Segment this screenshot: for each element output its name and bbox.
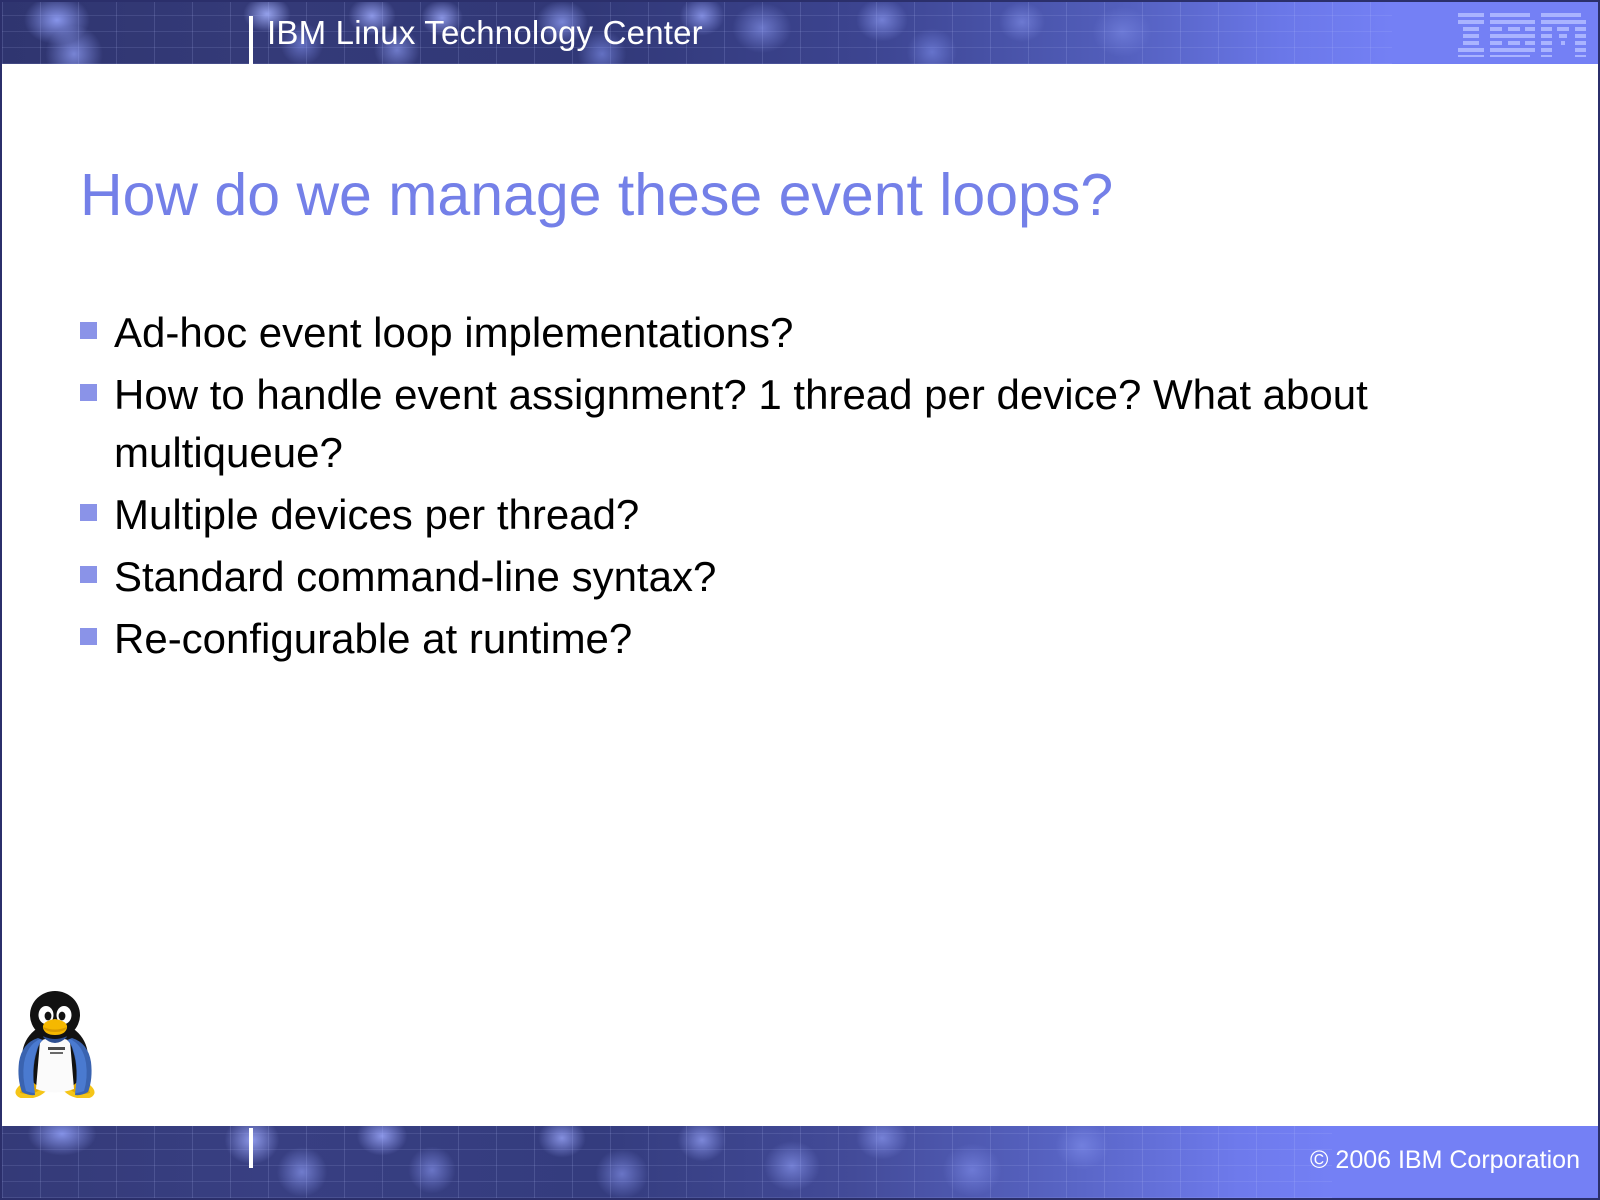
footer-texture-pattern bbox=[2, 1126, 1332, 1198]
slide-title: How do we manage these event loops? bbox=[80, 160, 1530, 230]
square-bullet-icon bbox=[80, 322, 97, 339]
bullet-text: How to handle event assignment? 1 thread… bbox=[114, 366, 1500, 482]
linux-tux-penguin-icon bbox=[10, 985, 102, 1098]
presentation-slide: IBM Linux Technology Center bbox=[0, 0, 1600, 1200]
header-separator bbox=[249, 16, 253, 64]
list-item: Multiple devices per thread? bbox=[80, 486, 1500, 544]
ibm-logo-icon bbox=[1458, 11, 1586, 57]
list-item: Standard command-line syntax? bbox=[80, 548, 1500, 606]
header-brand-title: IBM Linux Technology Center bbox=[267, 15, 703, 51]
slide-bullet-list: Ad-hoc event loop implementations? How t… bbox=[80, 304, 1500, 672]
slide-footer-banner: © 2006 IBM Corporation bbox=[2, 1126, 1600, 1198]
bullet-text: Re-configurable at runtime? bbox=[114, 610, 1500, 668]
bullet-text: Standard command-line syntax? bbox=[114, 548, 1500, 606]
footer-separator bbox=[249, 1128, 253, 1168]
square-bullet-icon bbox=[80, 384, 97, 401]
list-item: Re-configurable at runtime? bbox=[80, 610, 1500, 668]
list-item: Ad-hoc event loop implementations? bbox=[80, 304, 1500, 362]
bullet-text: Multiple devices per thread? bbox=[114, 486, 1500, 544]
bullet-text: Ad-hoc event loop implementations? bbox=[114, 304, 1500, 362]
slide-header-banner: IBM Linux Technology Center bbox=[2, 2, 1600, 64]
list-item: How to handle event assignment? 1 thread… bbox=[80, 366, 1500, 482]
square-bullet-icon bbox=[80, 628, 97, 645]
copyright-text: © 2006 IBM Corporation bbox=[1310, 1145, 1580, 1175]
square-bullet-icon bbox=[80, 504, 97, 521]
square-bullet-icon bbox=[80, 566, 97, 583]
